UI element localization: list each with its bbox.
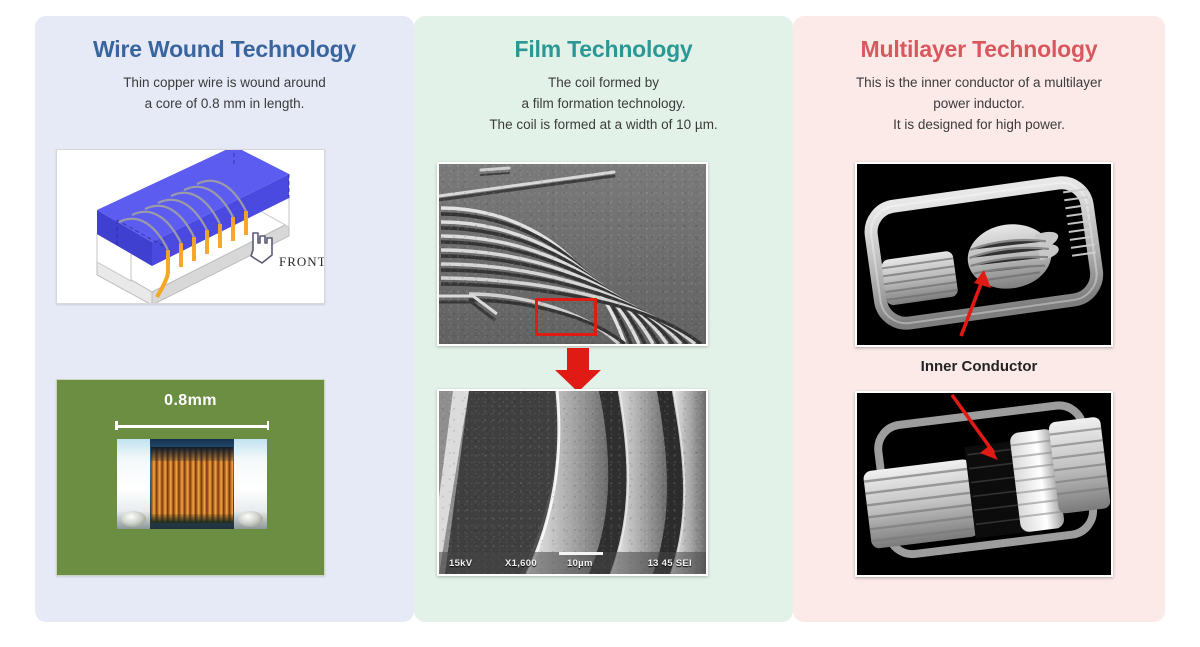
front-annotation-label: FRONT: [279, 254, 325, 269]
sem-voltage: 15kV: [449, 558, 472, 569]
wire-wound-photo: 0.8mm: [56, 379, 325, 576]
multilayer-ct-top-svg: [857, 164, 1111, 345]
pointer-hand-icon: [251, 233, 272, 263]
multilayer-ct-bottom-svg: [857, 393, 1111, 575]
sem-scale-bar: [559, 552, 603, 555]
dimension-bar: [115, 421, 269, 430]
coil-photo-body: [117, 439, 267, 529]
terminal-right: [234, 439, 267, 529]
zoom-down-arrow-icon: [555, 348, 601, 392]
sem-scale-label: 10µm: [567, 558, 593, 569]
sem-magnification: X1,600: [505, 558, 537, 569]
zoom-highlight-box: [535, 298, 597, 336]
copper-windings: [151, 447, 233, 523]
film-sem-wide: [437, 162, 708, 346]
description-line: Thin copper wire is wound around: [49, 73, 400, 94]
wire-wound-3d-illustration: FRONT: [56, 149, 325, 304]
panel-multilayer-title: Multilayer Technology: [793, 16, 1165, 63]
dimension-label: 0.8mm: [57, 392, 324, 410]
sem-info-bar: 15kV X1,600 10µm 13 45 SEI: [439, 552, 706, 574]
multilayer-ct-bottom: [855, 391, 1113, 577]
film-sem-zoom: 15kV X1,600 10µm 13 45 SEI: [437, 389, 708, 576]
wire-wound-3d-svg: FRONT: [57, 150, 325, 304]
panel-multilayer-description: This is the inner conductor of a multila…: [793, 73, 1165, 136]
technology-comparison-board: Wire Wound Technology Thin copper wire i…: [0, 0, 1200, 647]
panel-film-description: The coil formed by a film formation tech…: [414, 73, 793, 136]
sem-noise-overlay: [439, 391, 706, 574]
multilayer-ct-top: [855, 162, 1113, 347]
description-line: The coil formed by: [428, 73, 779, 94]
sem-detector-label: 13 45 SEI: [648, 558, 692, 569]
description-line: a film formation technology.: [428, 94, 779, 115]
description-line: It is designed for high power.: [807, 115, 1151, 136]
terminal-left: [117, 439, 150, 529]
description-line: a core of 0.8 mm in length.: [49, 94, 400, 115]
panel-wire-wound-title: Wire Wound Technology: [35, 16, 414, 63]
panel-film-title: Film Technology: [414, 16, 793, 63]
description-line: The coil is formed at a width of 10 µm.: [428, 115, 779, 136]
panel-wire-wound-description: Thin copper wire is wound around a core …: [35, 73, 414, 115]
description-line: power inductor.: [807, 94, 1151, 115]
inner-conductor-caption: Inner Conductor: [793, 358, 1165, 375]
description-line: This is the inner conductor of a multila…: [807, 73, 1151, 94]
